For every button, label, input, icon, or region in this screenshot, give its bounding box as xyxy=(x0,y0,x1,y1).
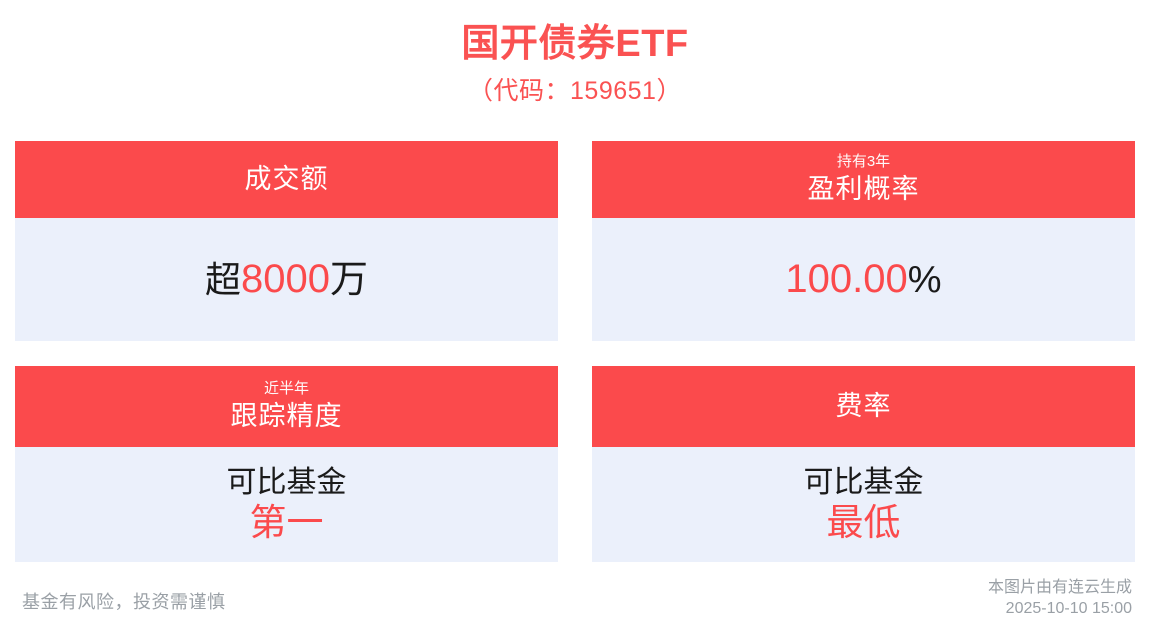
card-header-profit-probability: 持有3年 盈利概率 xyxy=(592,141,1135,218)
page-footer: 基金有风险，投资需谨慎 本图片由有连云生成 2025-10-10 15:00 xyxy=(0,562,1150,632)
card-header-title: 成交额 xyxy=(245,163,329,197)
value-prefix: 超 xyxy=(205,259,241,300)
card-header-title: 跟踪精度 xyxy=(231,400,343,434)
card-body-turnover: 超8000万 xyxy=(15,218,558,341)
page-header: 国开债券ETF （代码：159651） xyxy=(0,0,1150,106)
card-header-subtitle: 持有3年 xyxy=(837,153,890,172)
metric-card-tracking-accuracy: 近半年 跟踪精度 可比基金 第一 xyxy=(15,366,558,562)
value-number: 100.00 xyxy=(785,257,907,301)
etf-info-card-page: 国开债券ETF （代码：159651） 成交额 超8000万 持有3年 盈利概率… xyxy=(0,0,1150,632)
metric-value: 超8000万 xyxy=(205,256,368,303)
value-rank: 最低 xyxy=(827,502,901,545)
page-title: 国开债券ETF xyxy=(0,22,1150,68)
metric-card-profit-probability: 持有3年 盈利概率 100.00% xyxy=(592,141,1135,341)
value-unit: 万 xyxy=(330,259,368,301)
card-body-fee-rate: 可比基金 最低 xyxy=(592,447,1135,562)
card-body-profit-probability: 100.00% xyxy=(592,218,1135,341)
value-qualifier: 可比基金 xyxy=(227,465,347,501)
value-unit: % xyxy=(908,259,942,301)
generation-timestamp: 2025-10-10 15:00 xyxy=(988,598,1132,620)
risk-disclaimer: 基金有风险，投资需谨慎 xyxy=(22,590,226,620)
card-header-subtitle: 近半年 xyxy=(264,380,309,399)
card-body-tracking-accuracy: 可比基金 第一 xyxy=(15,447,558,562)
value-qualifier: 可比基金 xyxy=(804,465,924,501)
footer-source-block: 本图片由有连云生成 2025-10-10 15:00 xyxy=(988,577,1132,620)
value-number: 8000 xyxy=(241,257,330,301)
metric-card-turnover: 成交额 超8000万 xyxy=(15,141,558,341)
page-subtitle-code: （代码：159651） xyxy=(0,76,1150,106)
card-header-turnover: 成交额 xyxy=(15,141,558,218)
card-header-tracking-accuracy: 近半年 跟踪精度 xyxy=(15,366,558,447)
card-header-title: 盈利概率 xyxy=(808,173,920,207)
value-rank: 第一 xyxy=(250,502,324,545)
metric-card-fee-rate: 费率 可比基金 最低 xyxy=(592,366,1135,562)
source-attribution: 本图片由有连云生成 xyxy=(988,577,1132,599)
card-header-fee-rate: 费率 xyxy=(592,366,1135,447)
card-header-title: 费率 xyxy=(836,390,892,424)
metric-value: 100.00% xyxy=(785,256,941,303)
metric-card-grid: 成交额 超8000万 持有3年 盈利概率 100.00% 近半年 xyxy=(15,141,1135,562)
